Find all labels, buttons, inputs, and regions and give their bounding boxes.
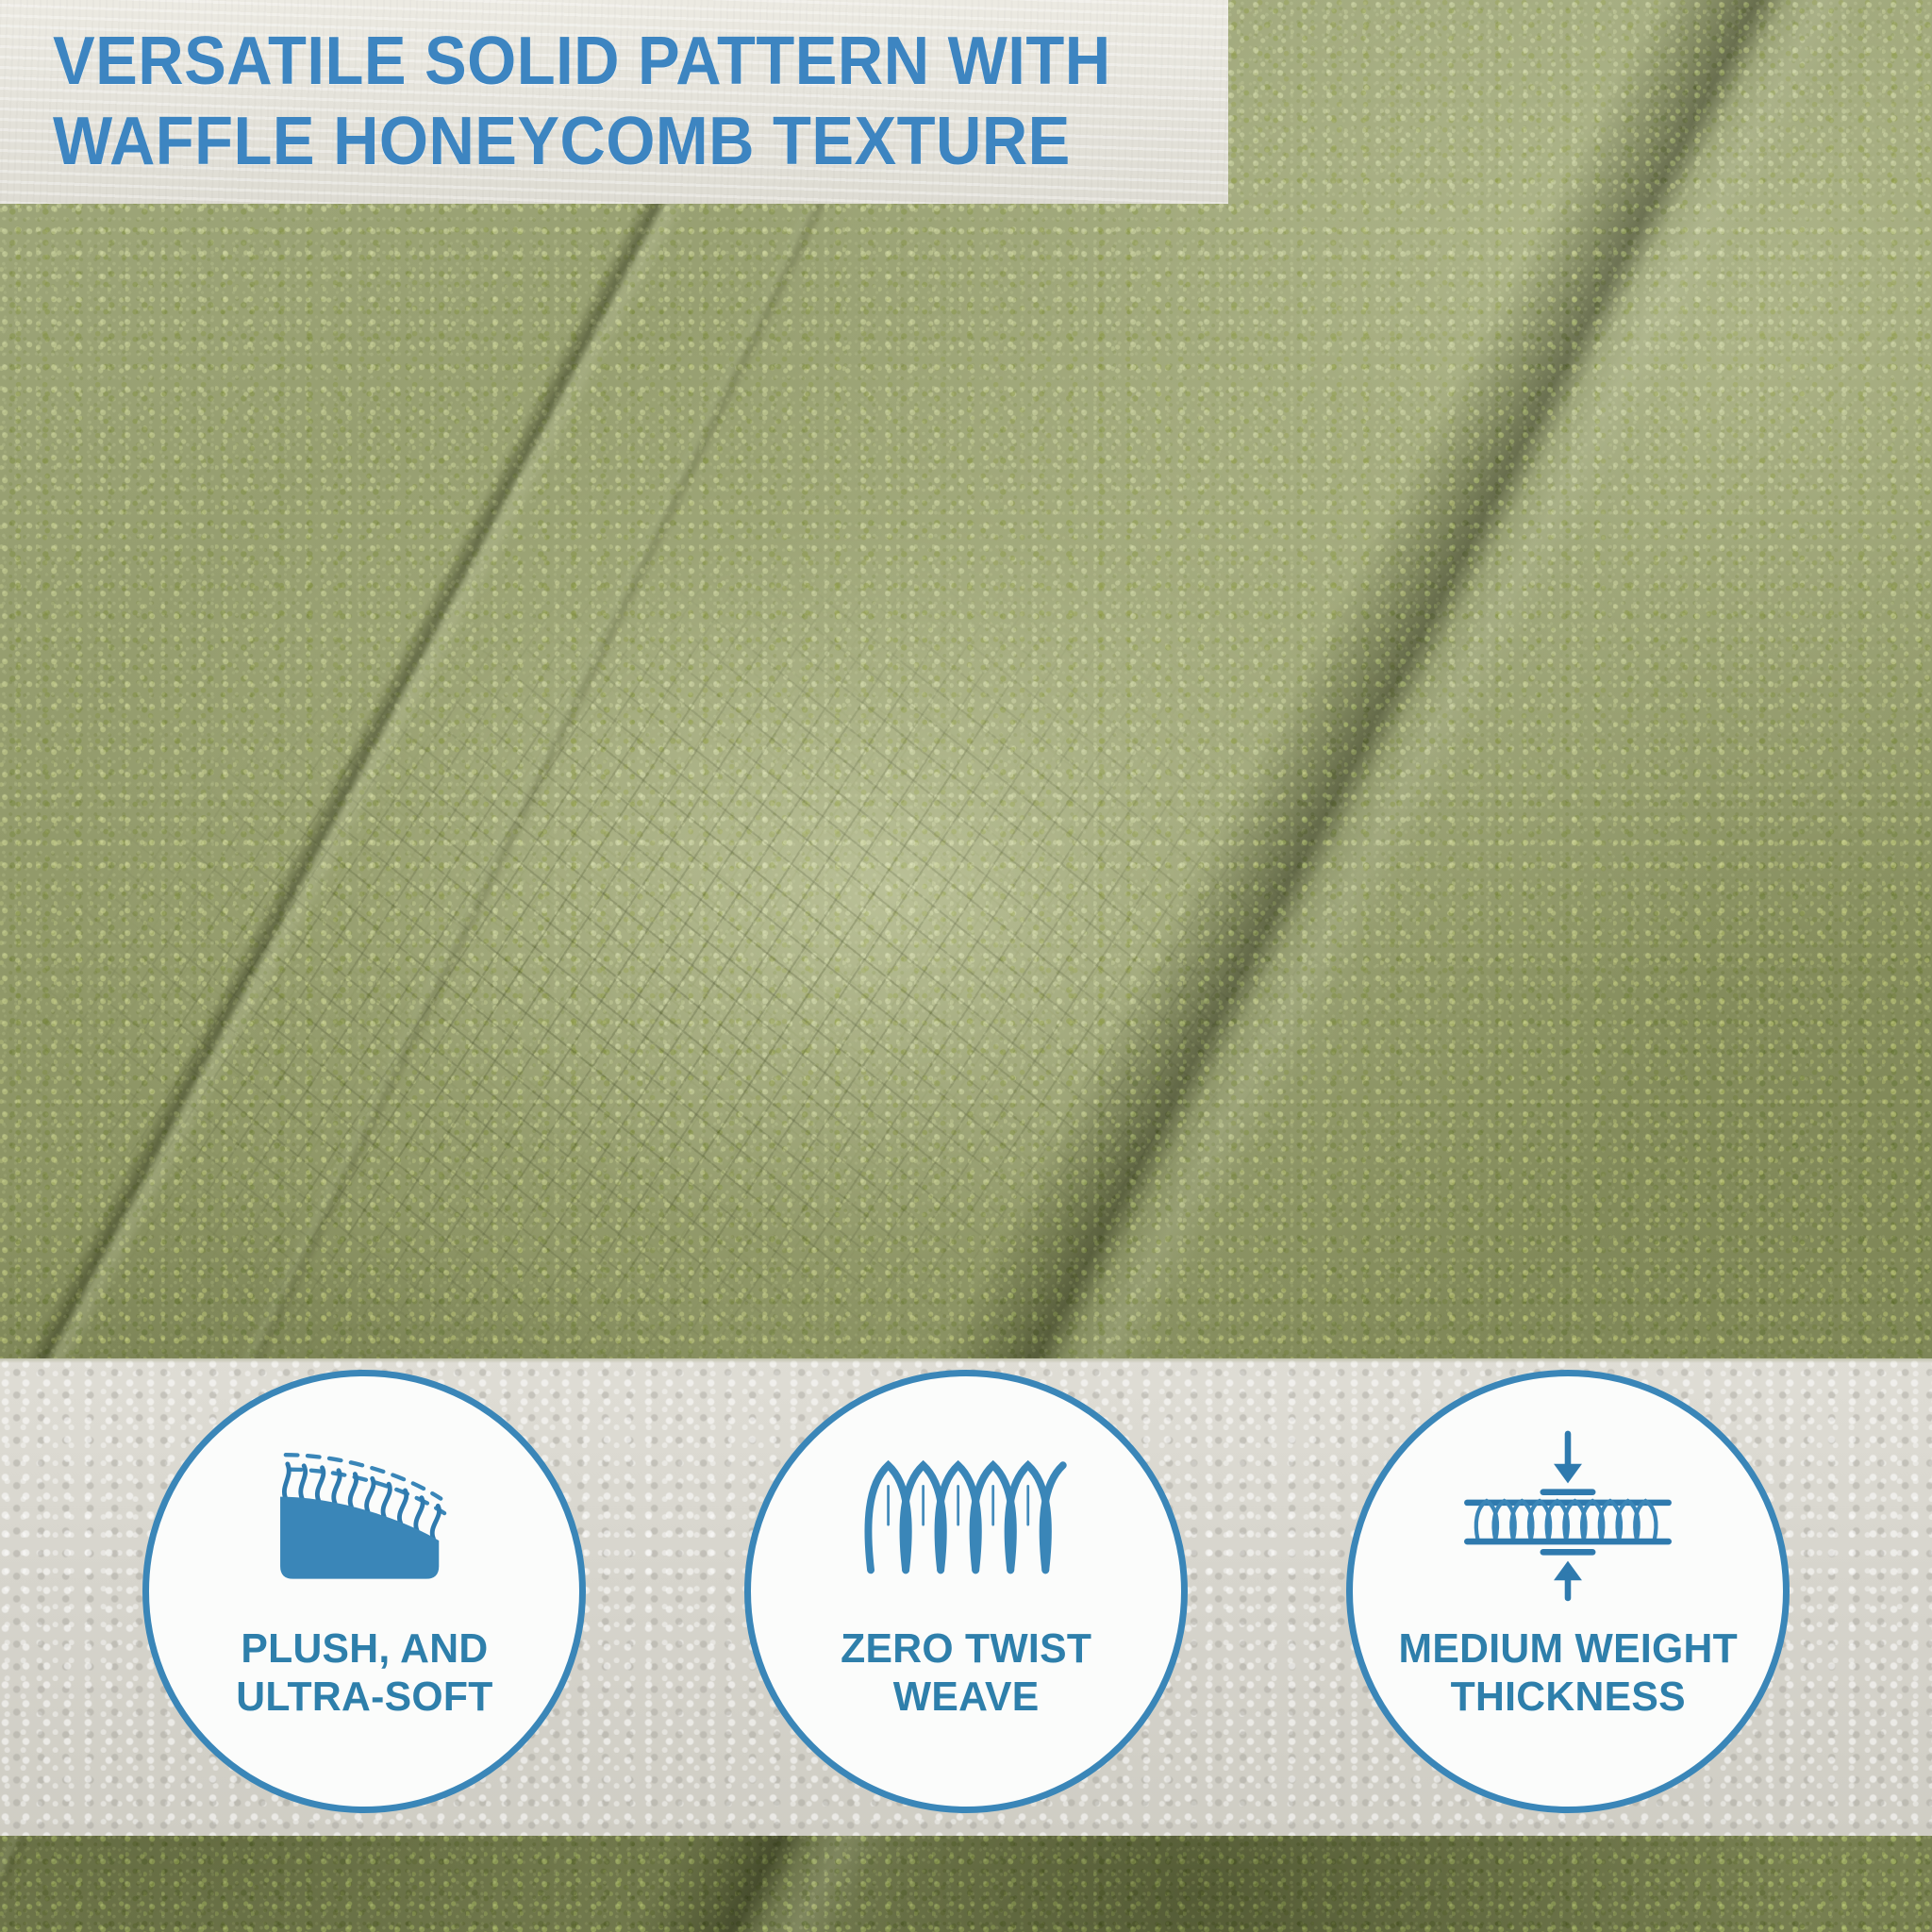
plush-towel-fibers-icon [237, 1425, 491, 1605]
badge-label-line-2: THICKNESS [1398, 1674, 1737, 1722]
feature-badge-list: PLUSH, AND ULTRA-SOFT [0, 1358, 1932, 1836]
thickness-arrows-icon [1441, 1425, 1695, 1605]
badge-label-thickness: MEDIUM WEIGHT THICKNESS [1398, 1625, 1737, 1721]
zero-twist-loops-icon [839, 1425, 1093, 1605]
badge-label-zero-twist: ZERO TWIST WEAVE [841, 1625, 1091, 1721]
badge-label-plush: PLUSH, AND ULTRA-SOFT [236, 1625, 492, 1721]
headline-line-2: WAFFLE HONEYCOMB TEXTURE [53, 102, 1146, 182]
badge-label-line-1: ZERO TWIST [841, 1625, 1091, 1672]
headline-banner: VERSATILE SOLID PATTERN WITH WAFFLE HONE… [0, 0, 1228, 204]
badge-label-line-2: ULTRA-SOFT [236, 1674, 492, 1722]
product-feature-image: VERSATILE SOLID PATTERN WITH WAFFLE HONE… [0, 0, 1932, 1932]
badge-label-line-1: MEDIUM WEIGHT [1398, 1625, 1737, 1672]
badge-label-line-2: WEAVE [841, 1674, 1091, 1722]
headline-line-1: VERSATILE SOLID PATTERN WITH [53, 22, 1146, 102]
feature-badge-zero-twist-weave: ZERO TWIST WEAVE [744, 1370, 1188, 1813]
badge-label-line-1: PLUSH, AND [241, 1625, 488, 1672]
feature-badge-strip: PLUSH, AND ULTRA-SOFT [0, 1358, 1932, 1836]
feature-badge-plush-ultra-soft: PLUSH, AND ULTRA-SOFT [142, 1370, 586, 1813]
feature-badge-medium-weight-thickness: MEDIUM WEIGHT THICKNESS [1346, 1370, 1790, 1813]
